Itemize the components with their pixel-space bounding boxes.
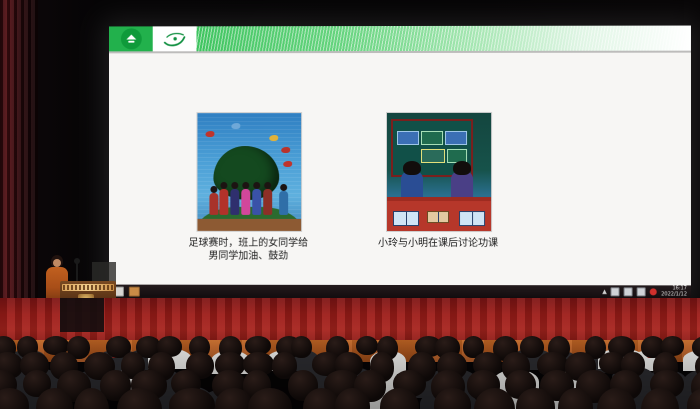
- audience-member: [356, 336, 378, 355]
- windows-taskbar[interactable]: ▲ 16:17 2022/1/12: [109, 285, 691, 299]
- left-image-caption: 足球赛时，班上的女同学给男同学加油、鼓劲: [185, 237, 313, 263]
- chevron-up-icon[interactable]: ▲: [602, 289, 607, 295]
- left-curtain: [0, 0, 38, 300]
- right-image-caption: 小玲与小明在课后讨论功课: [374, 237, 502, 250]
- stage-left-shadow: [60, 298, 104, 332]
- green-house-logo-icon: [109, 26, 153, 51]
- podium-banner: [62, 284, 114, 291]
- clock-date: 2022/1/12: [661, 292, 687, 298]
- record-icon[interactable]: [650, 288, 657, 295]
- auditorium-scene: 他们的交往恰当吗？: [0, 0, 700, 409]
- taskbar-clock[interactable]: 16:17 2022/1/12: [661, 286, 687, 297]
- student-audience: [0, 330, 700, 409]
- folder-icon[interactable]: [129, 286, 140, 296]
- audience-member: [291, 336, 312, 358]
- header-gradient: [196, 26, 690, 52]
- volume-icon[interactable]: [624, 287, 633, 296]
- children-cheering-drawing: [196, 112, 302, 232]
- projection-screen: 他们的交往恰当吗？: [109, 26, 691, 299]
- swoosh-logo-icon: [153, 26, 197, 51]
- slide-header-band: [109, 26, 691, 52]
- slide-body: 足球赛时，班上的女同学给男同学加油、鼓劲 小玲与小明在课后讨论功课 ▲ 16:1…: [109, 53, 691, 299]
- display-icon[interactable]: [637, 287, 646, 296]
- network-icon[interactable]: [611, 287, 620, 296]
- students-discussing-drawing: [386, 112, 492, 232]
